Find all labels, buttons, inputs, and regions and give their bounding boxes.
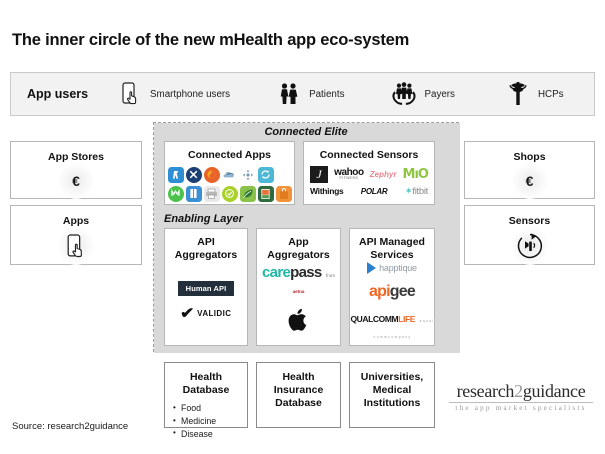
app-users-item-label: Smartphone users	[150, 89, 230, 100]
box-app-aggregators: App Aggregators carepass from aetna	[256, 228, 341, 346]
validic-logo[interactable]: ✔ VALIDIC	[181, 306, 232, 321]
page-title: The inner circle of the new mHealth app …	[12, 31, 409, 50]
two-people-icon	[276, 79, 302, 109]
list-item: Medicine	[173, 415, 216, 428]
zephyr-logo[interactable]: Zephyr	[370, 170, 397, 179]
app-users-bar: App users Smartphone users	[10, 72, 595, 116]
bag-app-icon[interactable]	[276, 186, 292, 202]
euro-glyph: €	[58, 163, 94, 199]
box-title-line: Institutions	[361, 397, 423, 410]
qualcomm-life-logo[interactable]: QUALCOMMLIFE a q u a l c o m m c o m p a…	[350, 310, 434, 342]
box-connected-apps: Connected Apps	[164, 141, 295, 205]
check-app-icon[interactable]	[222, 186, 238, 202]
polar-logo[interactable]: POLAR	[361, 187, 388, 196]
caduceus-icon	[505, 79, 531, 109]
app-users-item-hcps: HCPs	[505, 79, 564, 109]
euro-icon: €	[11, 163, 141, 199]
validic-check-icon: ✔	[180, 306, 194, 321]
app-users-items: Smartphone users Patients	[113, 79, 594, 109]
carepass-wordmark: carepass	[262, 264, 321, 281]
apigee-logo[interactable]: apigee	[369, 284, 415, 300]
health-database-bullets: Food Medicine Disease	[173, 402, 216, 440]
move-app-icon[interactable]	[240, 167, 256, 183]
box-health-insurance-database: Health Insurance Database	[256, 362, 341, 428]
app-users-item-payers: Payers	[391, 79, 455, 109]
api-aggregator-logos: Human API ✔ VALIDIC	[165, 262, 247, 345]
sensor-row-2: Withings POLAR ✶fitbit	[310, 186, 428, 197]
human-api-logo[interactable]: Human API	[178, 281, 235, 296]
icon-halo	[57, 227, 95, 265]
happtique-wordmark: happtique	[379, 263, 417, 273]
app-users-item-label: HCPs	[538, 89, 564, 100]
app-users-item-smartphone: Smartphone users	[117, 79, 230, 109]
box-title-line: Database	[183, 384, 230, 397]
icon-halo	[511, 227, 549, 265]
box-title: App Stores	[48, 151, 104, 163]
box-apps: Apps	[10, 205, 142, 265]
list-item: Disease	[173, 428, 216, 441]
box-title: Health Database	[183, 371, 230, 397]
box-app-stores: App Stores €	[10, 141, 142, 199]
connected-elite-heading: Connected Elite	[153, 126, 459, 138]
box-title-line: Aggregators	[175, 249, 237, 262]
box-title: Shops	[513, 151, 545, 163]
box-shops: Shops €	[464, 141, 595, 199]
placeholder-app-icon	[276, 167, 292, 183]
app-users-label: App users	[27, 87, 113, 101]
box-title-line: Database	[274, 397, 324, 410]
leaf-app-icon[interactable]	[240, 186, 256, 202]
smartphone-tap-icon	[117, 79, 143, 109]
box-title-line: API Managed	[359, 236, 425, 249]
list-item: Food	[173, 402, 216, 415]
box-title-line: Universities,	[361, 371, 423, 384]
app-users-item-patients: Patients	[276, 79, 344, 109]
box-title: Connected Apps	[188, 149, 271, 162]
box-title: API Aggregators	[175, 236, 237, 262]
apple-logo[interactable]	[288, 307, 310, 337]
box-title-line: Services	[359, 249, 425, 262]
qualcomm-wordmark: QUALCOMMLIFE	[350, 314, 415, 324]
brand-tagline: the app market specialists	[447, 405, 595, 412]
source-note: Source: research2guidance	[12, 421, 128, 432]
box-title-line: Medical	[361, 384, 423, 397]
box-title: API Managed Services	[359, 236, 425, 262]
m-app-icon[interactable]	[168, 186, 184, 202]
withings-logo[interactable]: Withings	[310, 186, 343, 196]
box-title-line: App	[267, 236, 329, 249]
box-health-database: Health Database Food Medicine Disease	[164, 362, 248, 428]
photo-app-icon[interactable]	[258, 186, 274, 202]
slide-canvas: The inner circle of the new mHealth app …	[0, 0, 605, 454]
validic-wordmark: VALIDIC	[197, 309, 231, 318]
happtique-logo[interactable]: happtique	[367, 262, 417, 274]
xbox-app-icon[interactable]	[186, 167, 202, 183]
box-title: Apps	[63, 215, 89, 227]
sensor-wave-icon	[465, 227, 594, 265]
app-aggregator-logos: carepass from aetna	[257, 262, 340, 345]
connected-sensors-logos: J wahoo FITNESS Zephyr MıO Withings POLA…	[304, 166, 434, 197]
box-title-line: Health	[274, 371, 324, 384]
box-title-line: Aggregators	[267, 249, 329, 262]
euro-icon: €	[465, 163, 594, 199]
app-users-item-label: Patients	[309, 89, 344, 100]
connected-apps-icon-grid	[168, 167, 292, 202]
box-title: Universities, Medical Institutions	[361, 371, 423, 410]
box-title: Connected Sensors	[320, 149, 419, 162]
fitbit-logo[interactable]: ✶fitbit	[405, 186, 428, 197]
box-title: Sensors	[509, 215, 550, 227]
box-api-managed-services: API Managed Services happtique apigee QU…	[349, 228, 435, 346]
box-universities-medical-institutions: Universities, Medical Institutions	[349, 362, 435, 428]
box-title-line: API	[175, 236, 237, 249]
box-title-line: Insurance	[274, 384, 324, 397]
cloud-app-icon[interactable]	[222, 167, 238, 183]
sync-app-icon[interactable]	[258, 167, 274, 183]
box-connected-sensors: Connected Sensors J wahoo FITNESS Zephyr…	[303, 141, 435, 205]
wahoo-logo[interactable]: wahoo FITNESS	[334, 168, 364, 181]
research2guidance-logo: research2guidance the app market special…	[447, 382, 595, 412]
adobe-app-icon[interactable]	[168, 167, 184, 183]
box-title: Health Insurance Database	[274, 371, 324, 410]
enabling-layer-heading: Enabling Layer	[164, 213, 243, 225]
sensor-row-1: J wahoo FITNESS Zephyr MıO	[310, 166, 428, 183]
euro-glyph: €	[512, 163, 548, 199]
box-title-line: Health	[183, 371, 230, 384]
brand-wordmark: research2guidance	[447, 382, 595, 400]
box-title: App Aggregators	[267, 236, 329, 262]
jawbone-logo[interactable]: J	[310, 166, 328, 183]
happtique-play-icon	[367, 262, 376, 274]
firefox-app-icon[interactable]	[204, 167, 220, 183]
printer-app-icon[interactable]	[204, 186, 220, 202]
api-managed-services-logos: happtique apigee QUALCOMMLIFE a q u a l …	[350, 262, 434, 346]
hands-holding-people-icon	[391, 79, 417, 109]
box-sensors: Sensors	[464, 205, 595, 265]
book-app-icon[interactable]	[186, 186, 202, 202]
carepass-logo[interactable]: carepass from aetna	[257, 265, 340, 297]
box-api-aggregators: API Aggregators Human API ✔ VALIDIC	[164, 228, 248, 346]
app-users-item-label: Payers	[424, 89, 455, 100]
brand-divider	[449, 402, 593, 403]
mio-logo[interactable]: MıO	[403, 167, 428, 182]
smartphone-tap-icon	[11, 227, 141, 265]
